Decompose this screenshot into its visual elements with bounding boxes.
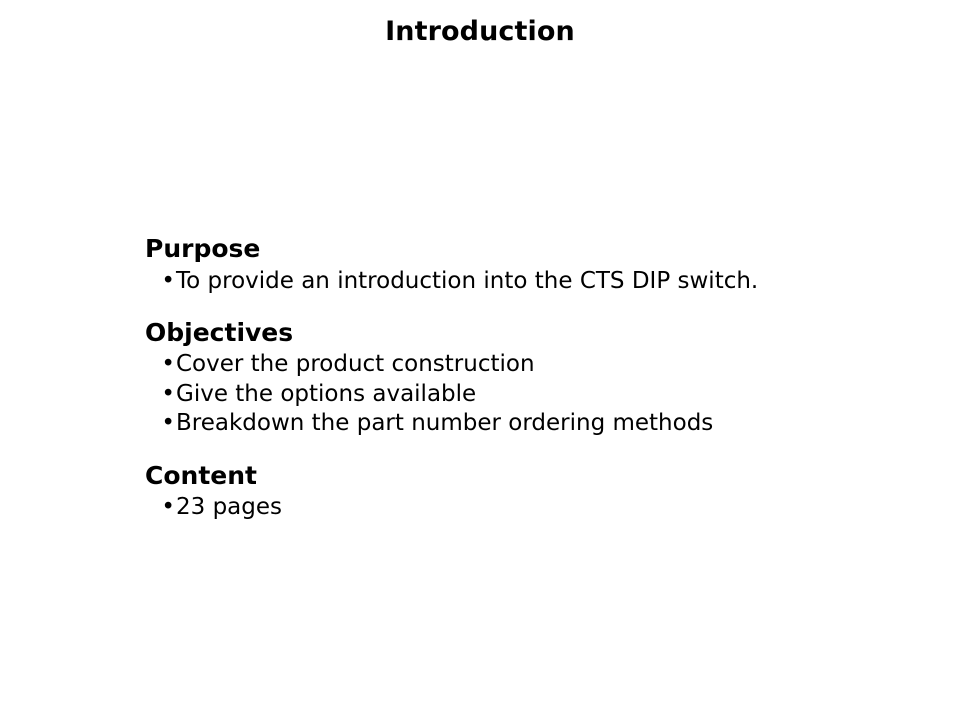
bullet-list-content: •23 pages — [145, 493, 885, 522]
list-item: •Give the options available — [145, 380, 885, 409]
slide-body: Purpose •To provide an introduction into… — [145, 234, 885, 523]
section-content: Content •23 pages — [145, 461, 885, 523]
bullet-dot-icon: • — [161, 350, 175, 379]
list-item: •23 pages — [145, 493, 885, 522]
list-item: •Cover the product construction — [145, 350, 885, 379]
section-heading-purpose: Purpose — [145, 234, 885, 265]
bullet-dot-icon: • — [161, 380, 175, 409]
bullet-list-objectives: •Cover the product construction •Give th… — [145, 350, 885, 438]
page-title: Introduction — [0, 16, 960, 47]
section-heading-content: Content — [145, 461, 885, 492]
list-item-label: Breakdown the part number ordering metho… — [176, 410, 713, 436]
bullet-dot-icon: • — [161, 267, 175, 296]
bullet-dot-icon: • — [161, 493, 175, 522]
bullet-list-purpose: •To provide an introduction into the CTS… — [145, 267, 885, 296]
section-heading-objectives: Objectives — [145, 318, 885, 349]
list-item-label: Cover the product construction — [176, 351, 535, 377]
section-objectives: Objectives •Cover the product constructi… — [145, 318, 885, 439]
list-item-label: 23 pages — [176, 494, 282, 520]
list-item: •Breakdown the part number ordering meth… — [145, 409, 885, 438]
section-purpose: Purpose •To provide an introduction into… — [145, 234, 885, 296]
slide-canvas: Introduction Purpose •To provide an intr… — [0, 0, 960, 720]
bullet-dot-icon: • — [161, 409, 175, 438]
list-item-label: Give the options available — [176, 381, 476, 407]
list-item-label: To provide an introduction into the CTS … — [176, 268, 758, 294]
list-item: •To provide an introduction into the CTS… — [145, 267, 885, 296]
